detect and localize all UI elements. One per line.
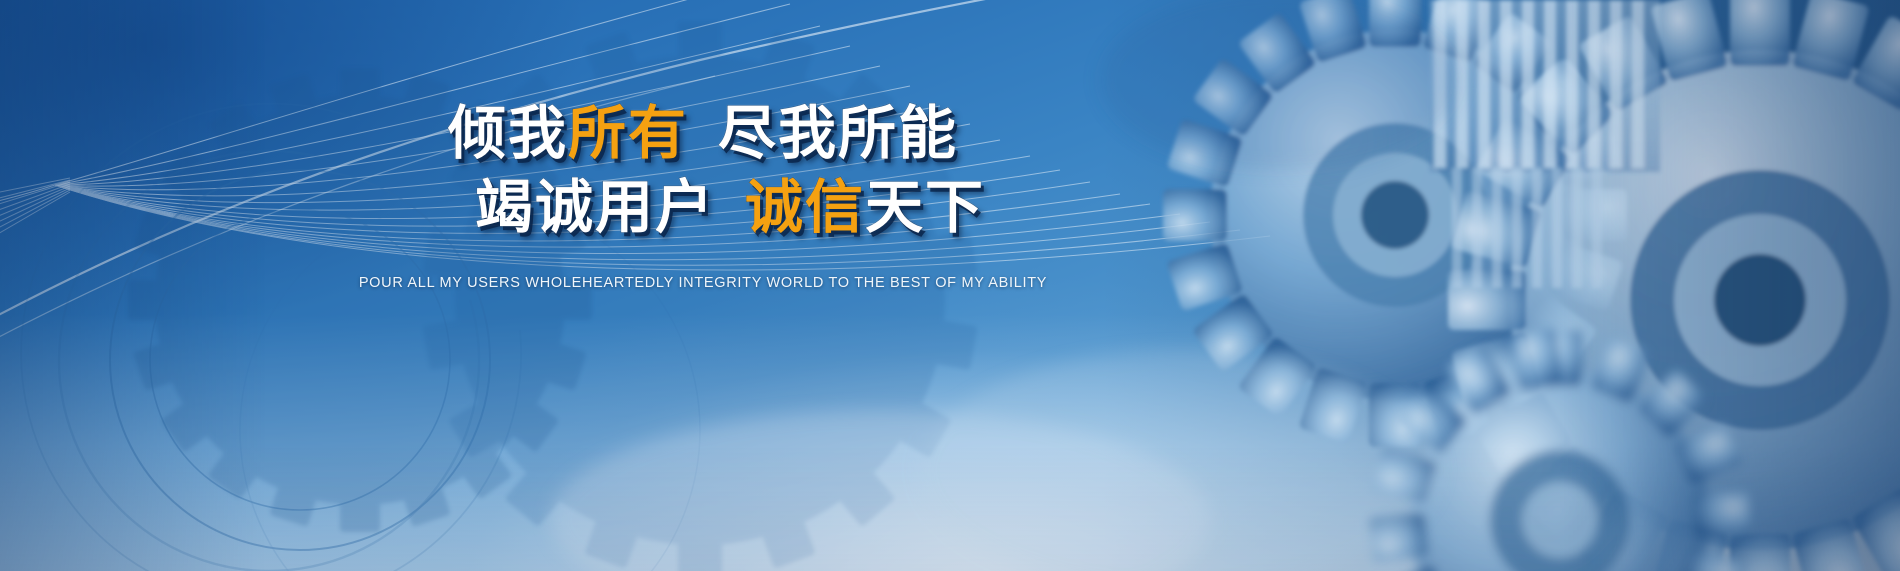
- headline-block: 倾我所有尽我所能 竭诚用户诚信天下: [0, 104, 1406, 236]
- banner-subtitle: POUR ALL MY USERS WHOLEHEARTEDLY INTEGRI…: [0, 275, 1406, 291]
- headline-line1-segment-1: 倾我: [448, 104, 568, 162]
- headline-line2-segment-3: 天下: [865, 178, 985, 236]
- headline-line-2: 竭诚用户诚信天下: [0, 178, 1406, 236]
- headline-line1-segment-2: 所有: [568, 104, 688, 162]
- headline-line1-segment-3: 尽我所能: [718, 104, 958, 162]
- headline-line2-segment-1: 竭诚用户: [475, 178, 715, 236]
- headline-line-1: 倾我所有尽我所能: [0, 104, 1406, 162]
- hero-banner: 倾我所有尽我所能 竭诚用户诚信天下 POUR ALL MY USERS WHOL…: [0, 0, 1900, 571]
- headline-line2-segment-2: 诚信: [745, 178, 865, 236]
